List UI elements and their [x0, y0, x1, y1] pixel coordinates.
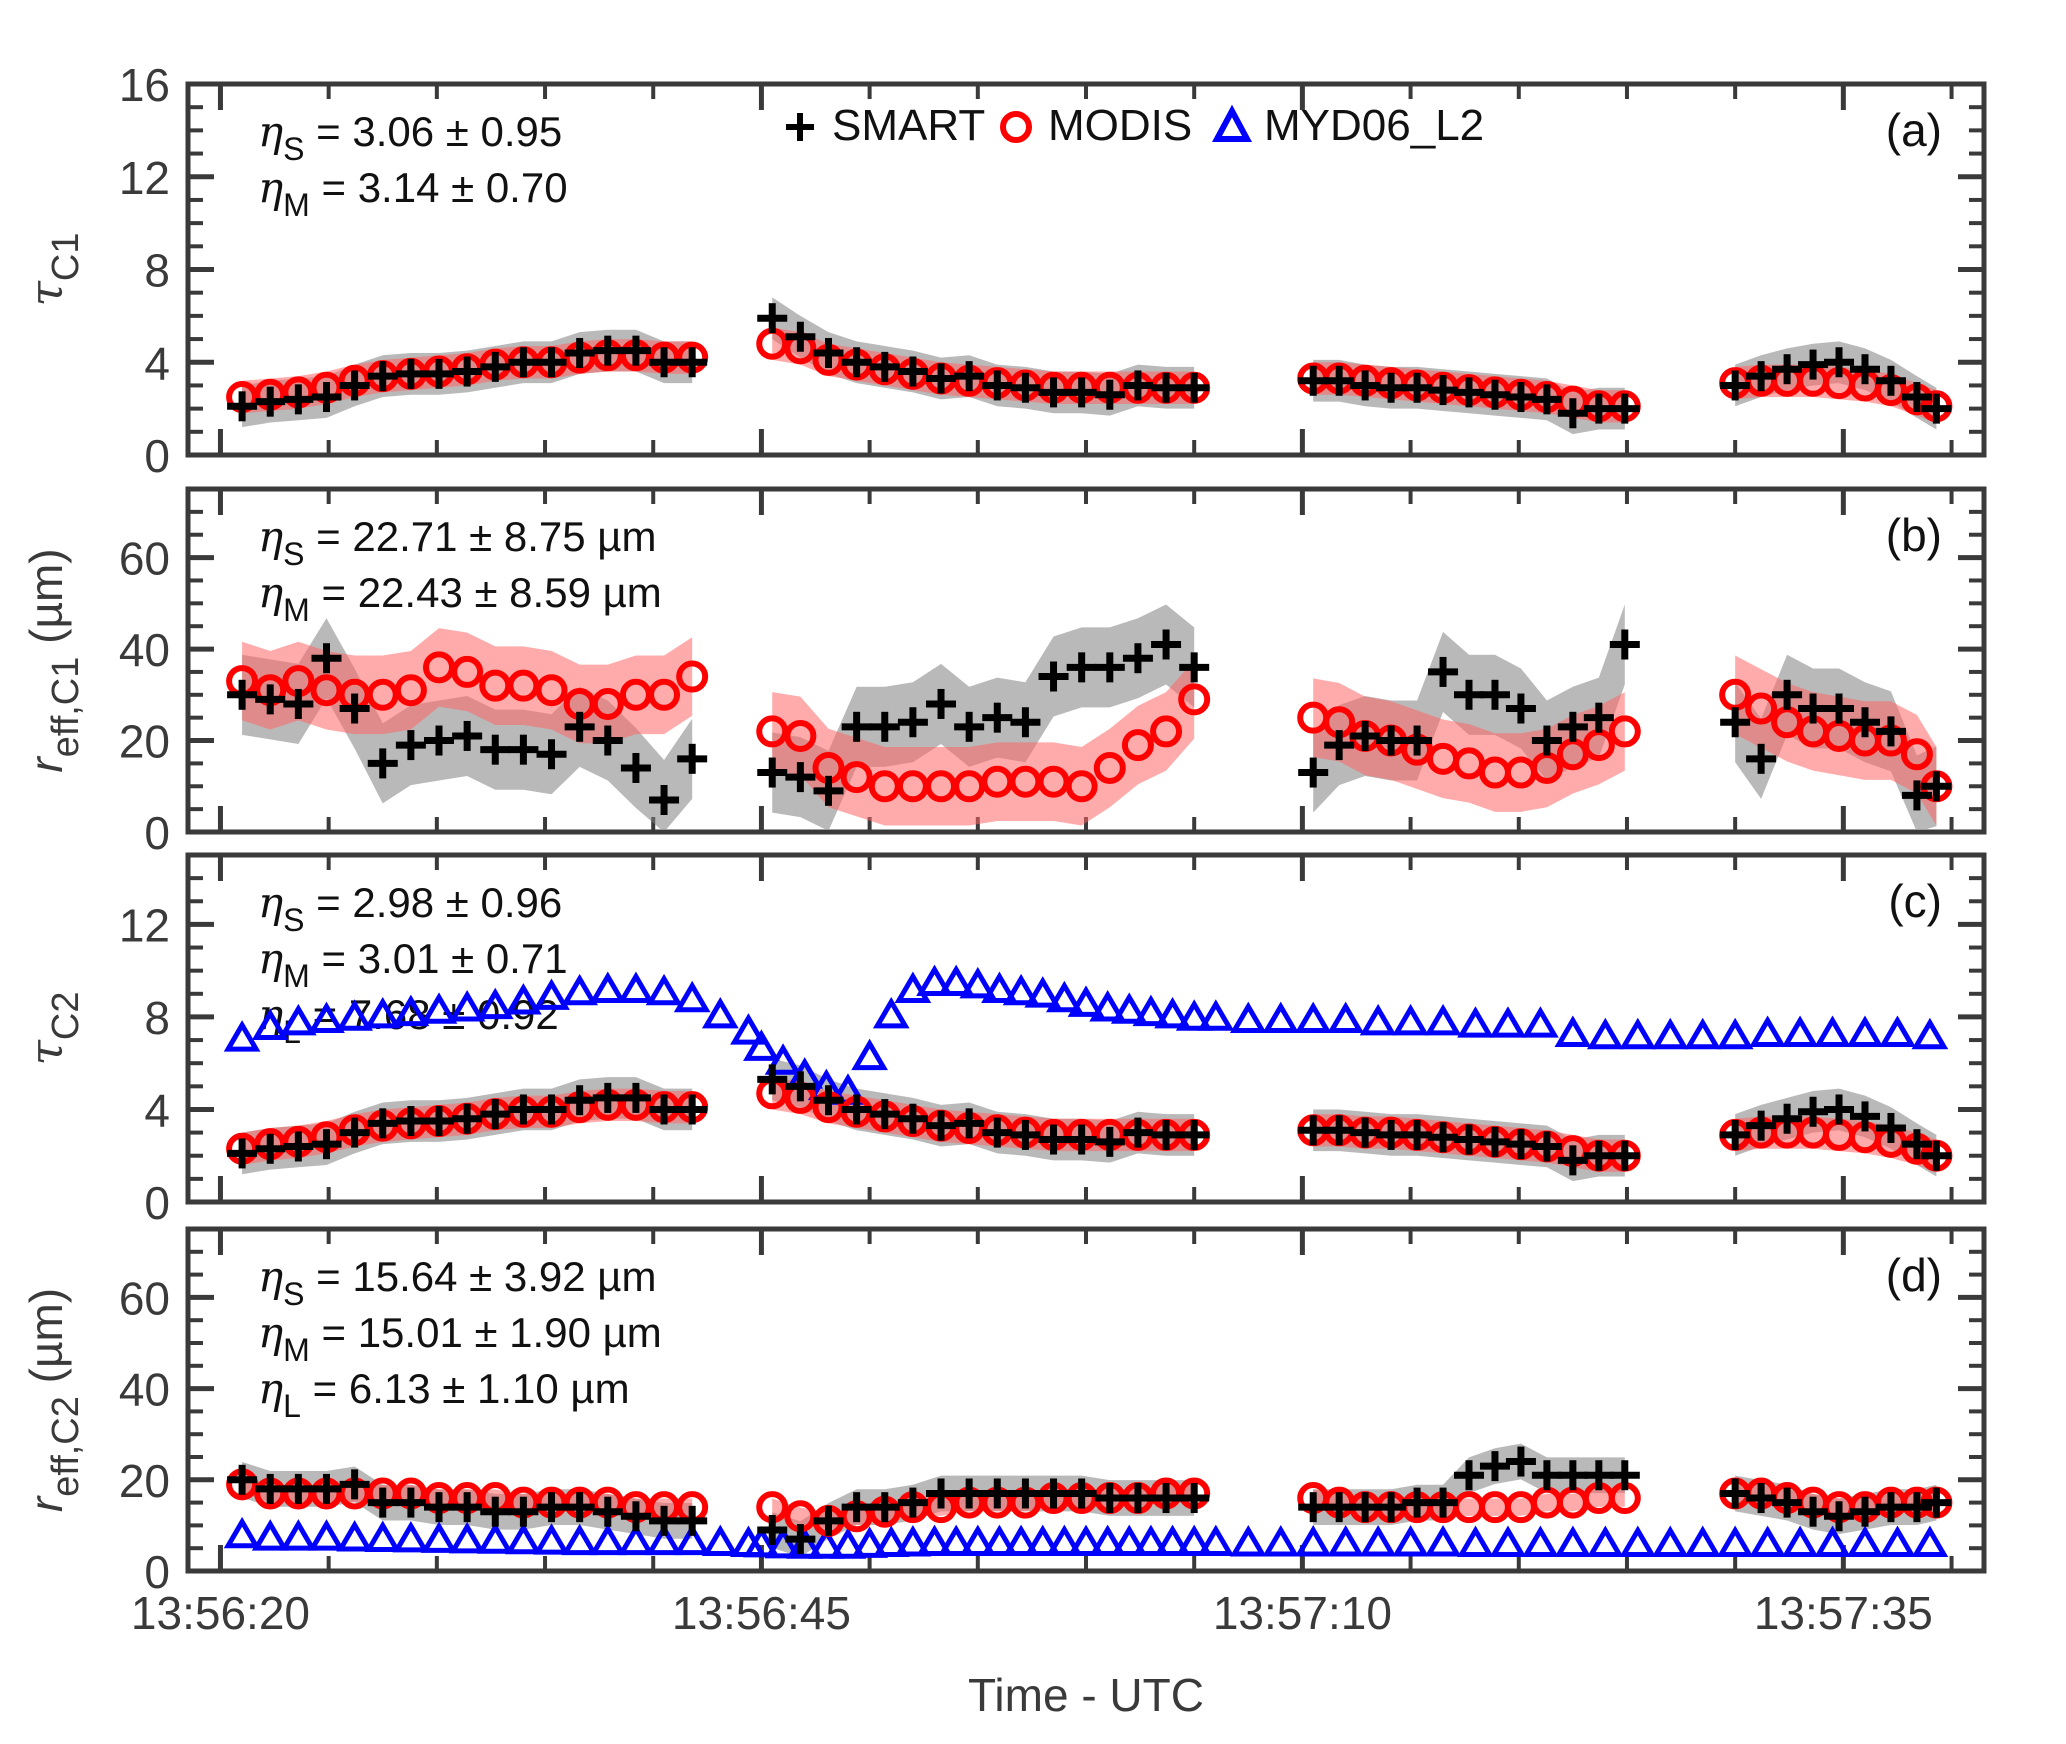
panel-a-annotation: ηM = 3.14 ± 0.70	[258, 163, 568, 223]
myd06-marker	[706, 1530, 734, 1554]
y-tick-label: 4	[144, 337, 170, 389]
myd06-marker	[228, 1025, 256, 1049]
x-tick-label: 13:56:45	[672, 1587, 851, 1639]
myd06-marker	[566, 1529, 594, 1553]
myd06-marker	[1754, 1020, 1782, 1044]
myd06-marker	[1332, 1007, 1360, 1031]
myd06-marker	[1786, 1020, 1814, 1044]
x-tick-label: 13:56:20	[131, 1587, 310, 1639]
y-tick-label: 20	[119, 1455, 170, 1507]
myd06-marker	[1819, 1020, 1847, 1044]
myd06-marker	[1591, 1530, 1619, 1554]
myd06-marker	[1851, 1020, 1879, 1044]
myd06-marker	[1526, 1530, 1554, 1554]
myd06-marker	[856, 1044, 884, 1068]
myd06-marker	[1234, 1530, 1262, 1554]
myd06-marker	[397, 1526, 425, 1550]
myd06-marker	[1883, 1530, 1911, 1554]
myd06-marker	[1494, 1011, 1522, 1035]
panel-d-annotation: ηM = 15.01 ± 1.90 µm	[258, 1308, 662, 1368]
myd06-marker	[1494, 1530, 1522, 1554]
y-axis-title-b: reff,C1 (µm)	[20, 548, 87, 772]
y-tick-label: 0	[144, 1177, 170, 1229]
legend-label-myd06_l2: MYD06_L2	[1264, 101, 1484, 150]
x-tick-label: 13:57:10	[1213, 1587, 1392, 1639]
panel-d-data	[227, 1444, 1951, 1557]
myd06-marker	[284, 1524, 312, 1548]
myd06-marker	[1332, 1530, 1360, 1554]
myd06-marker	[509, 1528, 537, 1552]
myd06-marker	[1656, 1530, 1684, 1554]
myd06-marker	[1461, 1011, 1489, 1035]
panel-label-a: (a)	[1886, 104, 1942, 156]
myd06-marker	[1656, 1023, 1684, 1047]
panel-a-annotation: ηS = 3.06 ± 0.95	[258, 107, 562, 167]
myd06-marker	[594, 1529, 622, 1553]
myd06-marker	[1591, 1023, 1619, 1047]
myd06-marker	[566, 979, 594, 1003]
panel-label-d: (d)	[1886, 1249, 1942, 1301]
myd06-marker	[1397, 1009, 1425, 1033]
panel-label-c: (c)	[1888, 875, 1942, 927]
myd06-marker	[622, 976, 650, 1000]
myd06-marker	[1429, 1009, 1457, 1033]
myd06-marker	[1559, 1020, 1587, 1044]
figure-root: 0481216(a)ηS = 3.06 ± 0.95ηM = 3.14 ± 0.…	[0, 0, 2066, 1744]
myd06-marker	[877, 1002, 905, 1026]
myd06-marker	[1721, 1023, 1749, 1047]
myd06-marker	[1202, 1004, 1230, 1028]
panel-c-axes: 04812(c)ηS = 2.98 ± 0.96ηM = 3.01 ± 0.71…	[119, 855, 1984, 1229]
myd06-marker	[1819, 1530, 1847, 1554]
myd06-marker	[1429, 1530, 1457, 1554]
myd06-marker	[1202, 1530, 1230, 1554]
svg-text:τC2: τC2	[19, 991, 87, 1065]
y-tick-label: 40	[119, 1364, 170, 1416]
panel-b-data	[227, 604, 1951, 832]
myd06-marker	[1461, 1530, 1489, 1554]
legend-label-modis: MODIS	[1048, 101, 1192, 150]
myd06-marker	[1364, 1009, 1392, 1033]
myd06-marker	[538, 1528, 566, 1552]
y-tick-label: 40	[119, 624, 170, 676]
svg-text:reff,C1 (µm): reff,C1 (µm)	[20, 548, 87, 772]
myd06-marker	[1299, 1530, 1327, 1554]
legend-label-smart: SMART	[832, 101, 985, 150]
svg-text:τC1: τC1	[19, 232, 87, 306]
myd06-marker	[453, 1527, 481, 1551]
myd06-marker	[1559, 1530, 1587, 1554]
myd06-marker	[1689, 1530, 1717, 1554]
myd06-marker	[1299, 1007, 1327, 1031]
myd06-marker	[1267, 1530, 1295, 1554]
myd06-marker	[425, 1526, 453, 1550]
panel-d-annotation: ηS = 15.64 ± 3.92 µm	[258, 1252, 656, 1312]
myd06-marker	[1234, 1007, 1262, 1031]
y-tick-label: 0	[144, 430, 170, 482]
x-axis-title: Time - UTC	[968, 1669, 1204, 1721]
myd06-marker	[1397, 1530, 1425, 1554]
y-tick-label: 60	[119, 533, 170, 585]
myd06-marker	[1883, 1020, 1911, 1044]
y-tick-label: 8	[144, 992, 170, 1044]
y-tick-label: 12	[119, 899, 170, 951]
myd06-marker	[1364, 1530, 1392, 1554]
myd06-marker	[1721, 1530, 1749, 1554]
myd06-marker	[747, 1034, 775, 1058]
myd06-marker	[1916, 1530, 1944, 1554]
myd06-marker	[228, 1522, 256, 1546]
panel-label-b: (b)	[1886, 509, 1942, 561]
myd06-marker	[1689, 1023, 1717, 1047]
panel-b-annotation: ηM = 22.43 ± 8.59 µm	[258, 568, 662, 628]
myd06-marker	[369, 1525, 397, 1549]
myd06-marker	[1526, 1011, 1554, 1035]
legend: SMARTMODISMYD06_L2	[786, 101, 1484, 150]
y-tick-label: 4	[144, 1084, 170, 1136]
y-tick-label: 20	[119, 716, 170, 768]
myd06-marker	[1851, 1530, 1879, 1554]
y-tick-label: 16	[119, 59, 170, 111]
myd06-marker	[341, 1525, 369, 1549]
panel-b-annotation: ηS = 22.71 ± 8.75 µm	[258, 512, 656, 572]
y-axis-title-d: reff,C2 (µm)	[20, 1288, 87, 1512]
myd06-marker	[312, 1524, 340, 1548]
y-axis-title-a: τC1	[19, 232, 87, 306]
circle-icon	[1003, 114, 1029, 140]
panel-c-annotation: ηM = 3.01 ± 0.71	[258, 934, 568, 994]
myd06-marker	[256, 1524, 284, 1548]
panel-c-annotation: ηS = 2.98 ± 0.96	[258, 878, 562, 938]
myd06-marker	[1786, 1530, 1814, 1554]
myd06-marker	[1624, 1530, 1652, 1554]
myd06-marker	[1624, 1023, 1652, 1047]
y-tick-label: 0	[144, 807, 170, 859]
myd06-marker	[1267, 1007, 1295, 1031]
myd06-marker	[1916, 1023, 1944, 1047]
myd06-marker	[1754, 1530, 1782, 1554]
x-tick-label: 13:57:35	[1754, 1587, 1933, 1639]
myd06-marker	[678, 986, 706, 1010]
myd06-marker	[706, 1002, 734, 1026]
panel-a-data	[227, 297, 1951, 434]
panel-d-annotation: ηL = 6.13 ± 1.10 µm	[258, 1364, 630, 1424]
svg-text:reff,C2 (µm): reff,C2 (µm)	[20, 1288, 87, 1512]
myd06-marker	[594, 976, 622, 1000]
triangle-icon	[1217, 111, 1247, 139]
y-tick-label: 8	[144, 245, 170, 297]
chart-svg: 0481216(a)ηS = 3.06 ± 0.95ηM = 3.14 ± 0.…	[0, 0, 2066, 1744]
y-tick-label: 12	[119, 152, 170, 204]
myd06-marker	[650, 979, 678, 1003]
y-tick-label: 60	[119, 1272, 170, 1324]
y-axis-title-c: τC2	[19, 991, 87, 1065]
myd06-marker	[481, 1527, 509, 1551]
